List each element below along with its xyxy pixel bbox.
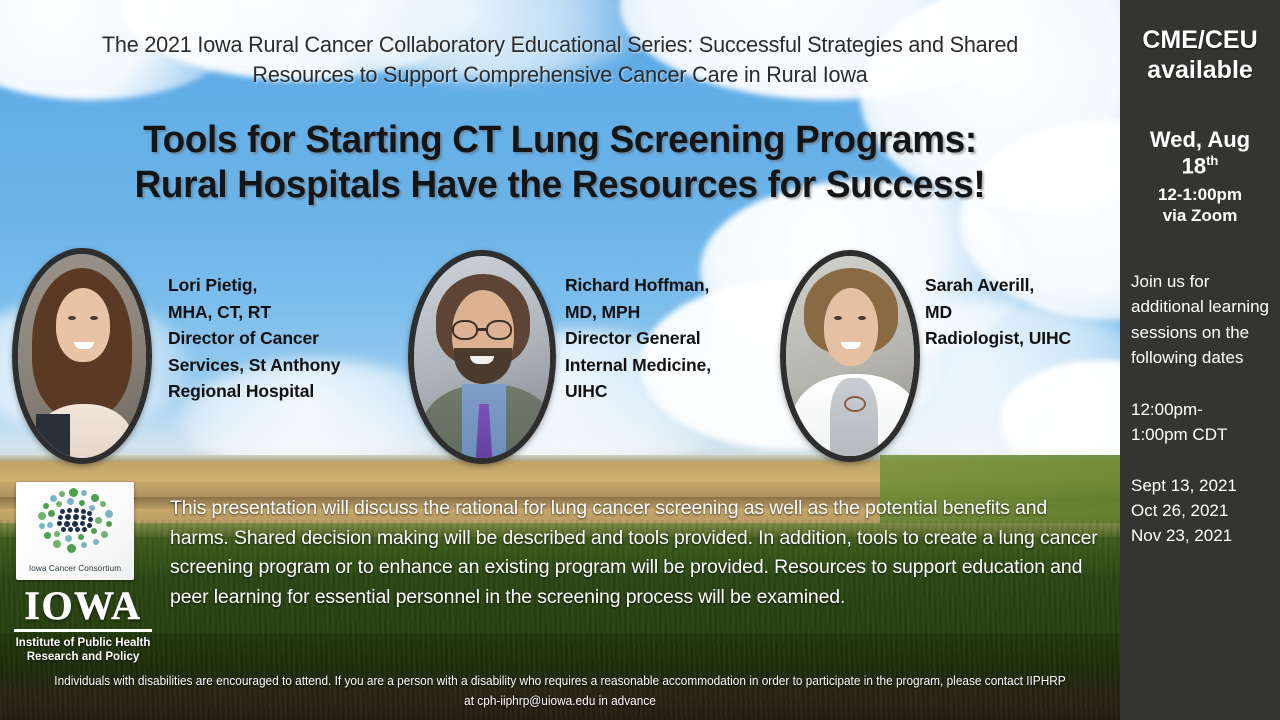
speaker-bio-richard-hoffman: Richard Hoffman, MD, MPH Director Genera… <box>565 272 780 405</box>
future-time-slot: 12:00pm- 1:00pm CDT <box>1131 397 1269 448</box>
jacket-shape <box>36 414 70 464</box>
glasses-icon <box>452 320 478 340</box>
eye-shape <box>858 316 866 320</box>
iowa-cancer-consortium-logo: Iowa Cancer Consortium <box>16 482 134 580</box>
iowa-logo-subtitle: Institute of Public Health Research and … <box>8 636 158 664</box>
page-title: Tools for Starting CT Lung Screening Pro… <box>36 118 1084 208</box>
portrait-image <box>18 254 146 458</box>
beard-shape <box>454 348 512 384</box>
face-shape <box>56 288 110 362</box>
speaker-bio-sarah-averill: Sarah Averill, MD Radiologist, UIHC <box>925 272 1115 352</box>
join-us-text: Join us for additional learning sessions… <box>1131 269 1269 371</box>
blouse-shape <box>830 378 878 462</box>
avatar-sarah-averill <box>780 250 920 462</box>
consortium-logo-caption: Iowa Cancer Consortium <box>16 564 134 573</box>
event-date: Wed, Aug 18th <box>1131 127 1269 180</box>
cme-badge: CME/CEU available <box>1131 26 1269 85</box>
iowa-wordmark: IOWA <box>8 586 158 626</box>
info-sidebar: CME/CEU available Wed, Aug 18th 12-1:00p… <box>1120 0 1280 720</box>
face-shape <box>824 288 878 366</box>
series-title: The 2021 Iowa Rural Cancer Collaboratory… <box>61 30 1059 90</box>
speaker-bio-lori-pietig: Lori Pietig, MHA, CT, RT Director of Can… <box>168 272 393 405</box>
iowa-iphrp-logo: IOWA Institute of Public Health Research… <box>8 586 158 664</box>
glasses-bridge <box>478 328 486 331</box>
portrait-image <box>786 256 914 456</box>
main-title-line-1: Tools for Starting CT Lung Screening Pro… <box>36 118 1084 163</box>
event-date-ordinal: th <box>1206 153 1218 168</box>
event-date-day: 18 <box>1182 154 1206 179</box>
consortium-dot-cluster <box>37 488 113 554</box>
portrait-image <box>414 256 550 458</box>
future-session-dates: Sept 13, 2021 Oct 26, 2021 Nov 23, 2021 <box>1131 474 1269 549</box>
avatar-richard-hoffman <box>408 250 556 464</box>
eye-shape <box>834 316 842 320</box>
event-date-text: Wed, Aug <box>1150 127 1250 152</box>
avatar-lori-pietig <box>12 248 152 464</box>
necklace-pendant <box>844 396 866 412</box>
eye-shape <box>68 316 76 320</box>
webinar-poster: The 2021 Iowa Rural Cancer Collaboratory… <box>0 0 1280 720</box>
accessibility-disclaimer: Individuals with disabilities are encour… <box>52 672 1067 711</box>
event-time: 12-1:00pm via Zoom <box>1131 184 1269 227</box>
main-title-line-2: Rural Hospitals Have the Resources for S… <box>36 163 1084 208</box>
glasses-icon <box>486 320 512 340</box>
session-description: This presentation will discuss the ratio… <box>170 494 1105 613</box>
eye-shape <box>90 316 98 320</box>
logo-divider <box>14 629 152 632</box>
